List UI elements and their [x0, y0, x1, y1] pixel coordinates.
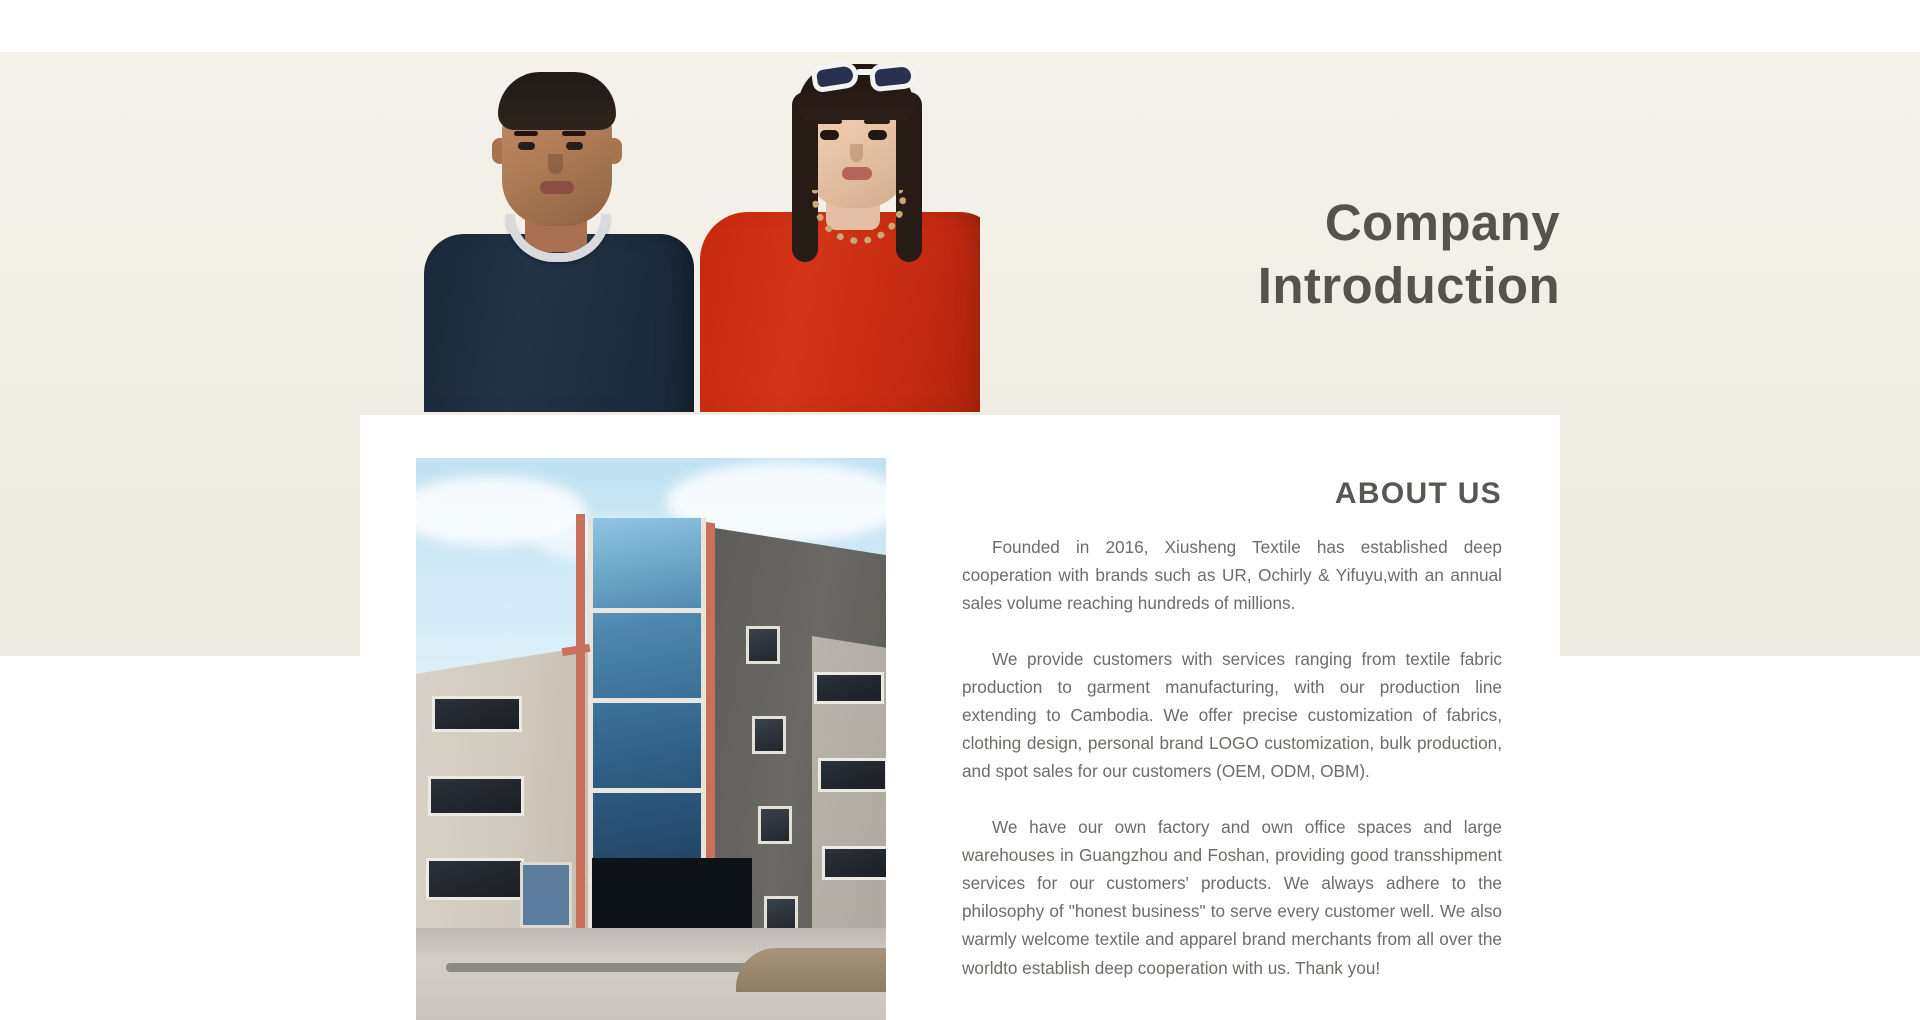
building-window — [758, 806, 792, 844]
building-window — [432, 696, 522, 732]
building-window — [814, 672, 884, 704]
building-window — [818, 758, 886, 792]
hero-models-photo — [400, 52, 980, 412]
male-model-hair — [498, 72, 616, 130]
building-window — [426, 858, 524, 900]
sunglasses-icon — [812, 60, 916, 94]
factory-building-photo — [416, 458, 886, 1020]
about-us-heading: ABOUT US — [962, 477, 1502, 511]
female-model-figure — [700, 52, 980, 412]
glass-floor-band — [588, 788, 706, 793]
about-text-column: ABOUT US Founded in 2016, Xiusheng Texti… — [962, 477, 1502, 982]
about-paragraph-1: Founded in 2016, Xiusheng Textile has es… — [962, 533, 1502, 618]
building-side-door — [520, 862, 572, 928]
female-model-eye-right — [868, 130, 887, 140]
about-card: ABOUT US Founded in 2016, Xiusheng Texti… — [360, 415, 1560, 1020]
dirt-patch — [736, 948, 886, 992]
male-model-eyebrow-left — [514, 131, 538, 136]
male-model-mouth — [540, 181, 574, 194]
male-model-figure — [424, 64, 694, 412]
glass-floor-band — [588, 698, 706, 703]
female-model-eye-left — [820, 130, 839, 140]
about-paragraph-3: We have our own factory and own office s… — [962, 813, 1502, 982]
male-model-eye-left — [518, 142, 535, 150]
about-paragraph-2: We provide customers with services rangi… — [962, 645, 1502, 786]
female-model-eyebrow-right — [864, 119, 890, 124]
sunglasses-lens-left — [810, 60, 860, 94]
male-model-eye-right — [566, 142, 583, 150]
sunglasses-lens-right — [869, 61, 918, 93]
male-model-nose — [548, 154, 563, 174]
male-model-eyebrow-right — [562, 131, 586, 136]
page-title: Company Introduction — [1000, 192, 1560, 317]
glass-floor-band — [588, 608, 706, 613]
page-title-line-1: Company — [1325, 194, 1560, 251]
building-entrance — [592, 858, 752, 928]
page-title-line-2: Introduction — [1258, 257, 1560, 314]
female-model-red-tshirt — [700, 212, 980, 412]
top-white-strip — [0, 0, 1920, 52]
building-window — [752, 716, 786, 754]
female-model-nose — [850, 144, 863, 162]
female-model-eyebrow-left — [816, 119, 842, 124]
building-window — [822, 846, 886, 880]
building-window — [746, 626, 780, 664]
building-window — [428, 776, 524, 816]
female-model-mouth — [842, 167, 872, 180]
